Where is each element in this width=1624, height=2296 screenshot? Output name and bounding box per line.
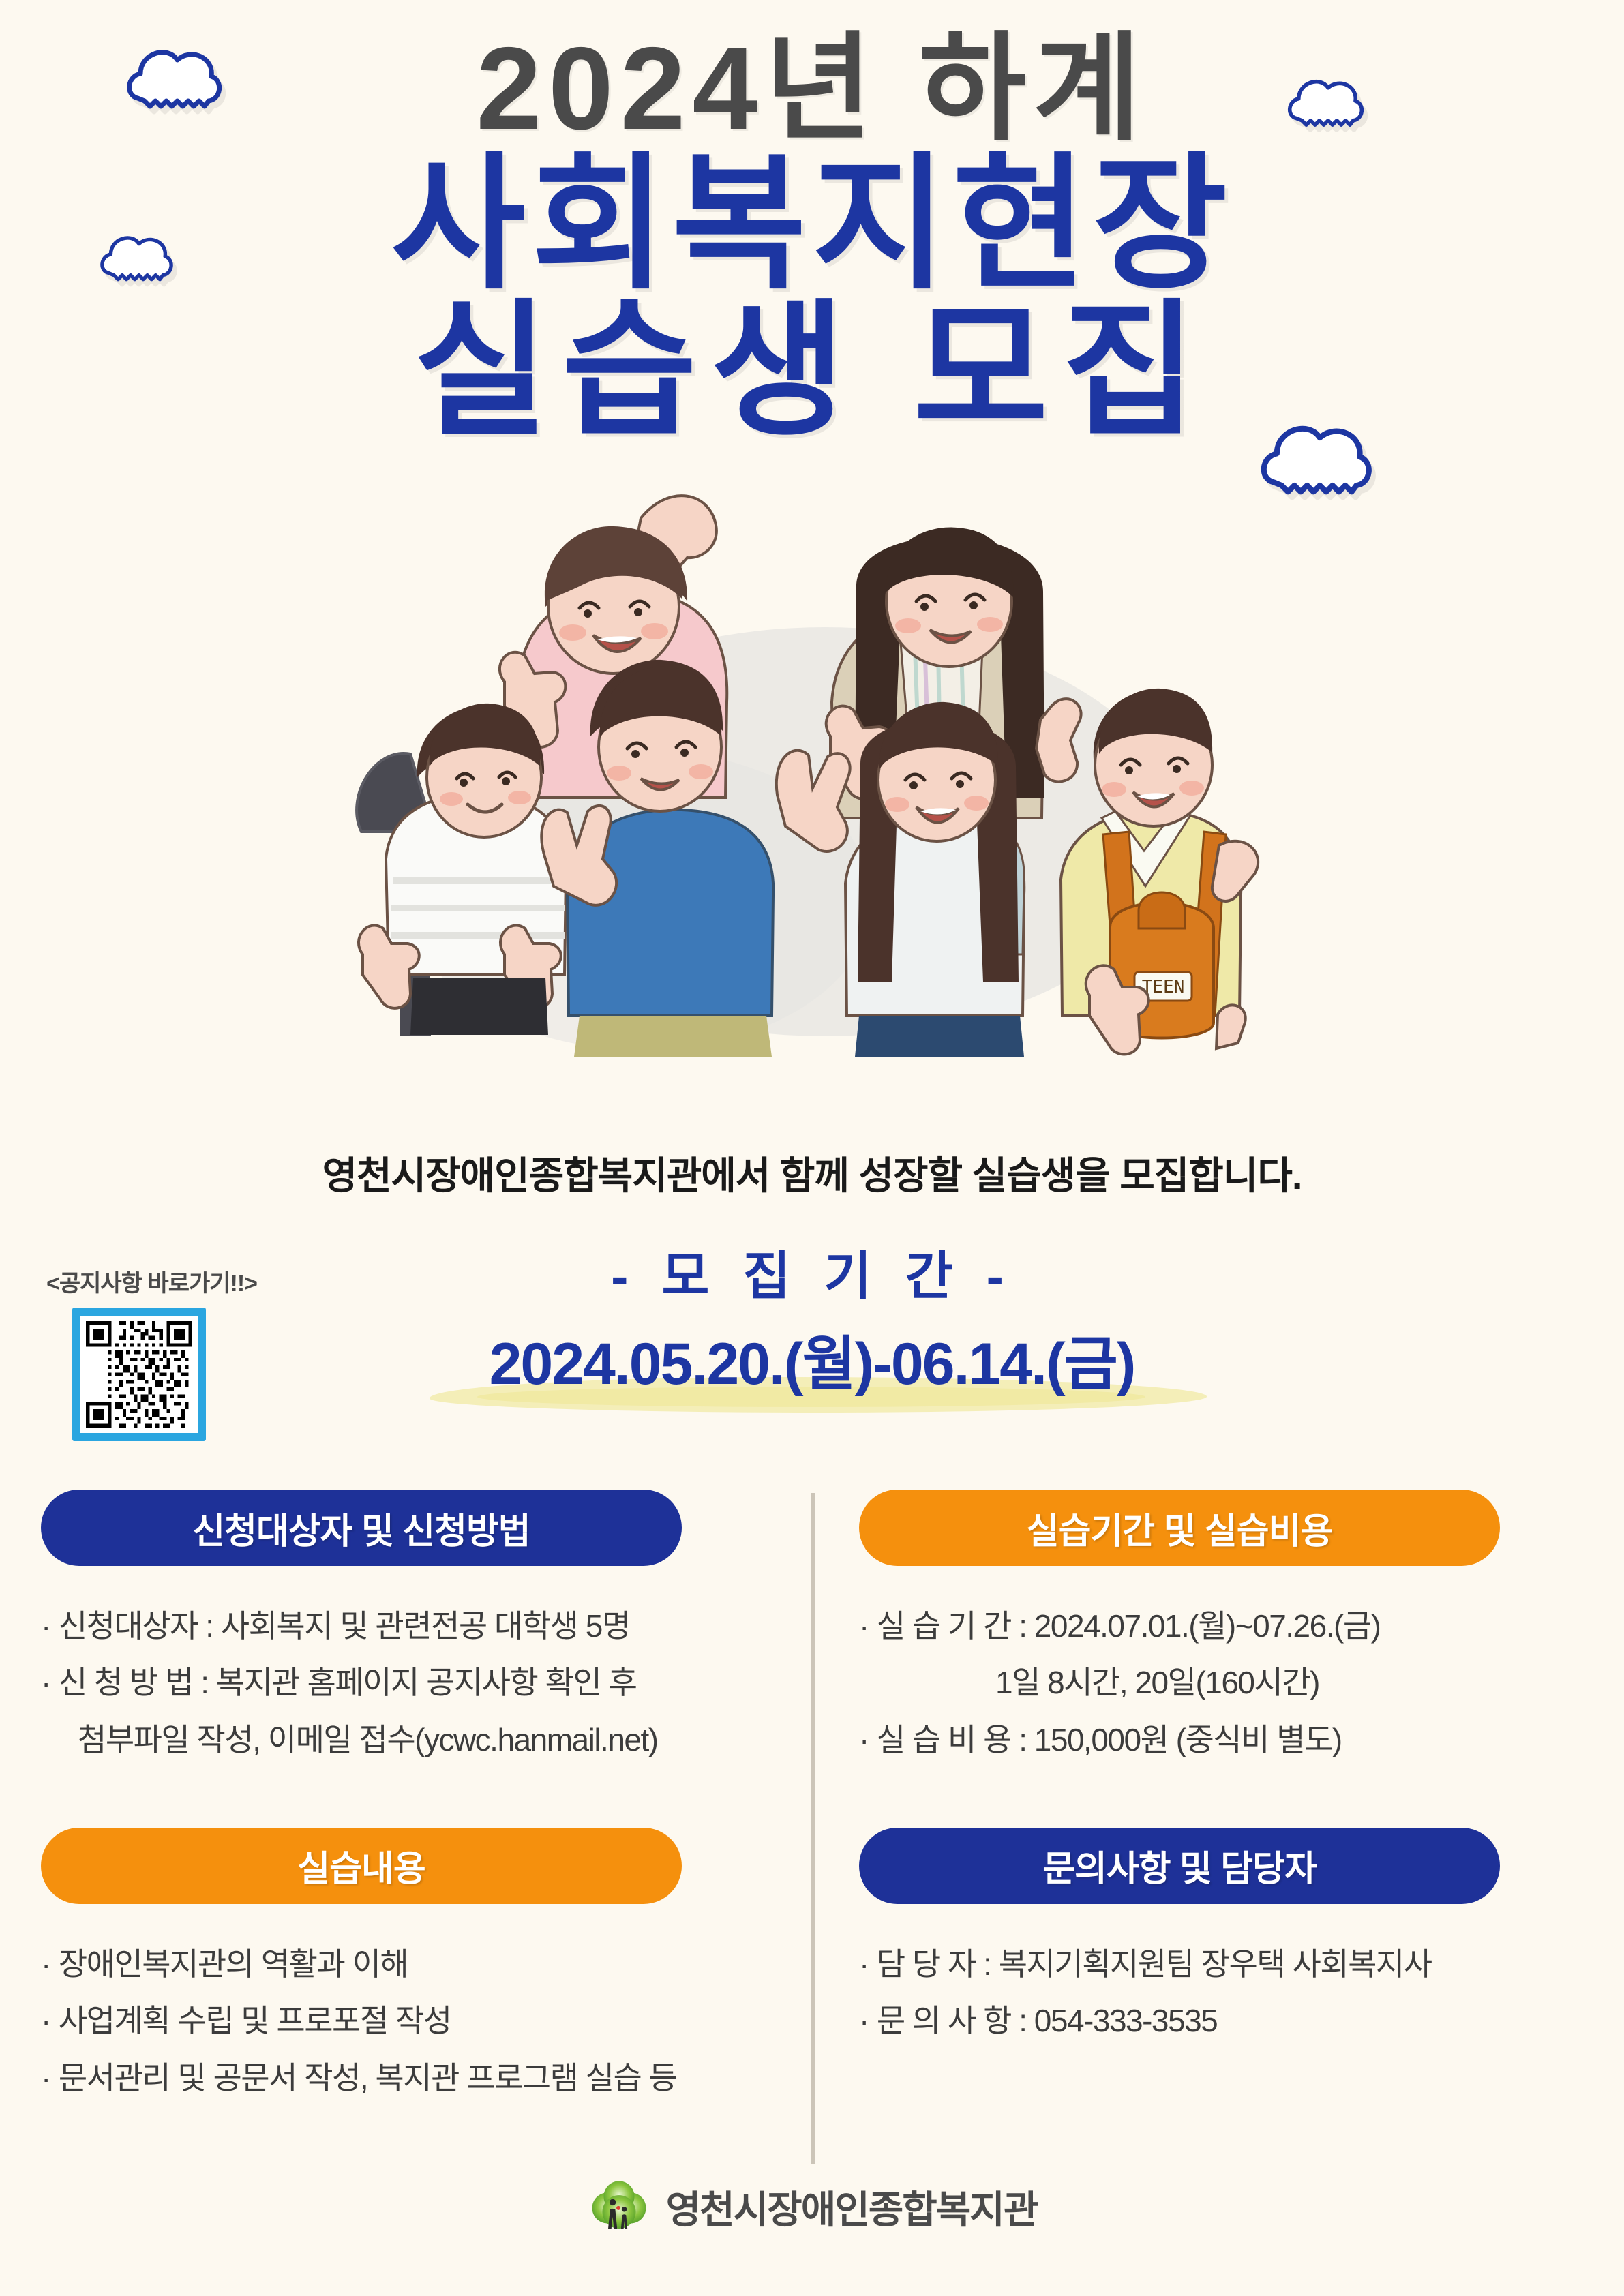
list-item-text: 신청대상자 : 사회복지 및 관련전공 대학생 5명 [59, 1604, 630, 1648]
bullet-icon: · [859, 1942, 869, 1987]
left-column: 신청대상자 및 신청방법 · 신청대상자 : 사회복지 및 관련전공 대학생 5… [41, 1490, 764, 2113]
list-item: 1일 8시간, 20일(160시간) [859, 1661, 1582, 1705]
list-item-text: 신 청 방 법 : 복지관 홈페이지 공지사항 확인 후 [59, 1661, 637, 1705]
column-divider [811, 1493, 815, 2164]
list-item-text: 담 당 자 : 복지기획지원팀 장우택 사회복지사 [877, 1942, 1432, 1987]
section-body-content: · 장애인복지관의 역활과 이해 · 사업계획 수립 및 프로포절 작성 · 문… [41, 1942, 764, 2100]
section-heading-contact: 문의사항 및 담당자 [859, 1828, 1500, 1904]
list-item: · 실 습 기 간 : 2024.07.01.(월)~07.26.(금) [859, 1604, 1582, 1648]
list-item-text: 문 의 사 항 : 054-333-3535 [877, 1999, 1217, 2043]
section-heading-content: 실습내용 [41, 1828, 682, 1904]
list-item-text-highlighted: 첨부파일 작성, 이메일 접수(ycwc.hanmail.net) [78, 1718, 658, 1762]
bullet-icon: · [859, 1718, 869, 1762]
section-body-duration: · 실 습 기 간 : 2024.07.01.(월)~07.26.(금) 1일 … [859, 1604, 1582, 1762]
organization-logo-icon [587, 2175, 651, 2239]
qr-code-image[interactable] [80, 1316, 198, 1433]
poster-root: 2024년 하계 사회복지현장 실습생 모집 [0, 0, 1624, 2296]
bullet-icon: · [41, 1942, 50, 1987]
footer: 영천시장애인종합복지관 [0, 2175, 1624, 2239]
list-item: · 문서관리 및 공문서 작성, 복지관 프로그램 실습 등 [41, 2056, 764, 2100]
list-item: · 신청대상자 : 사회복지 및 관련전공 대학생 5명 [41, 1604, 764, 1648]
list-item: · 장애인복지관의 역활과 이해 [41, 1942, 764, 1987]
list-item: · 실 습 비 용 : 150,000원 (중식비 별도) [859, 1718, 1582, 1762]
list-item: · 사업계획 수립 및 프로포절 작성 [41, 1999, 764, 2043]
section-heading-apply: 신청대상자 및 신청방법 [41, 1490, 682, 1566]
poster-title: 2024년 하계 사회복지현장 실습생 모집 [0, 27, 1624, 444]
qr-code-frame[interactable] [72, 1308, 206, 1441]
organization-name: 영천시장애인종합복지관 [666, 2179, 1038, 2235]
bullet-icon: · [41, 1661, 50, 1705]
qr-caption: <공지사항 바로가기!!> [41, 1265, 300, 1298]
list-item-text: 실 습 비 용 : 150,000원 (중식비 별도) [877, 1718, 1342, 1762]
list-item-text: 장애인복지관의 역활과 이해 [59, 1942, 408, 1987]
bullet-icon: · [41, 1999, 50, 2043]
title-line-1: 2024년 하계 [0, 27, 1624, 151]
bullet-icon: · [41, 1604, 50, 1648]
poster-subtitle: 영천시장애인종합복지관에서 함께 성장할 실습생을 모집합니다. [0, 1145, 1624, 1200]
bullet-icon: · [859, 1999, 869, 2043]
title-line-3: 실습생 모집 [0, 297, 1624, 444]
bullet-icon: · [859, 1604, 869, 1648]
list-item-text: 사업계획 수립 및 프로포절 작성 [59, 1999, 451, 2043]
section-heading-duration: 실습기간 및 실습비용 [859, 1490, 1500, 1566]
list-item-text: 문서관리 및 공문서 작성, 복지관 프로그램 실습 등 [59, 2056, 677, 2100]
list-item-text: 실 습 기 간 : 2024.07.01.(월)~07.26.(금) [877, 1604, 1381, 1648]
right-column: 실습기간 및 실습비용 · 실 습 기 간 : 2024.07.01.(월)~0… [859, 1490, 1582, 2056]
list-item: · 신 청 방 법 : 복지관 홈페이지 공지사항 확인 후 [41, 1661, 764, 1705]
title-line-2: 사회복지현장 [0, 151, 1624, 297]
section-body-contact: · 담 당 자 : 복지기획지원팀 장우택 사회복지사 · 문 의 사 항 : … [859, 1942, 1582, 2044]
list-item: 첨부파일 작성, 이메일 접수(ycwc.hanmail.net) [41, 1718, 764, 1762]
qr-notice-block[interactable]: <공지사항 바로가기!!> [41, 1265, 300, 1441]
section-body-apply: · 신청대상자 : 사회복지 및 관련전공 대학생 5명 · 신 청 방 법 :… [41, 1604, 764, 1762]
list-item-text: 1일 8시간, 20일(160시간) [995, 1661, 1319, 1705]
list-item: · 담 당 자 : 복지기획지원팀 장우택 사회복지사 [859, 1942, 1582, 1987]
bullet-icon: · [41, 2056, 50, 2100]
students-group-illustration: TEEN [259, 477, 1377, 1057]
list-item: · 문 의 사 항 : 054-333-3535 [859, 1999, 1582, 2043]
